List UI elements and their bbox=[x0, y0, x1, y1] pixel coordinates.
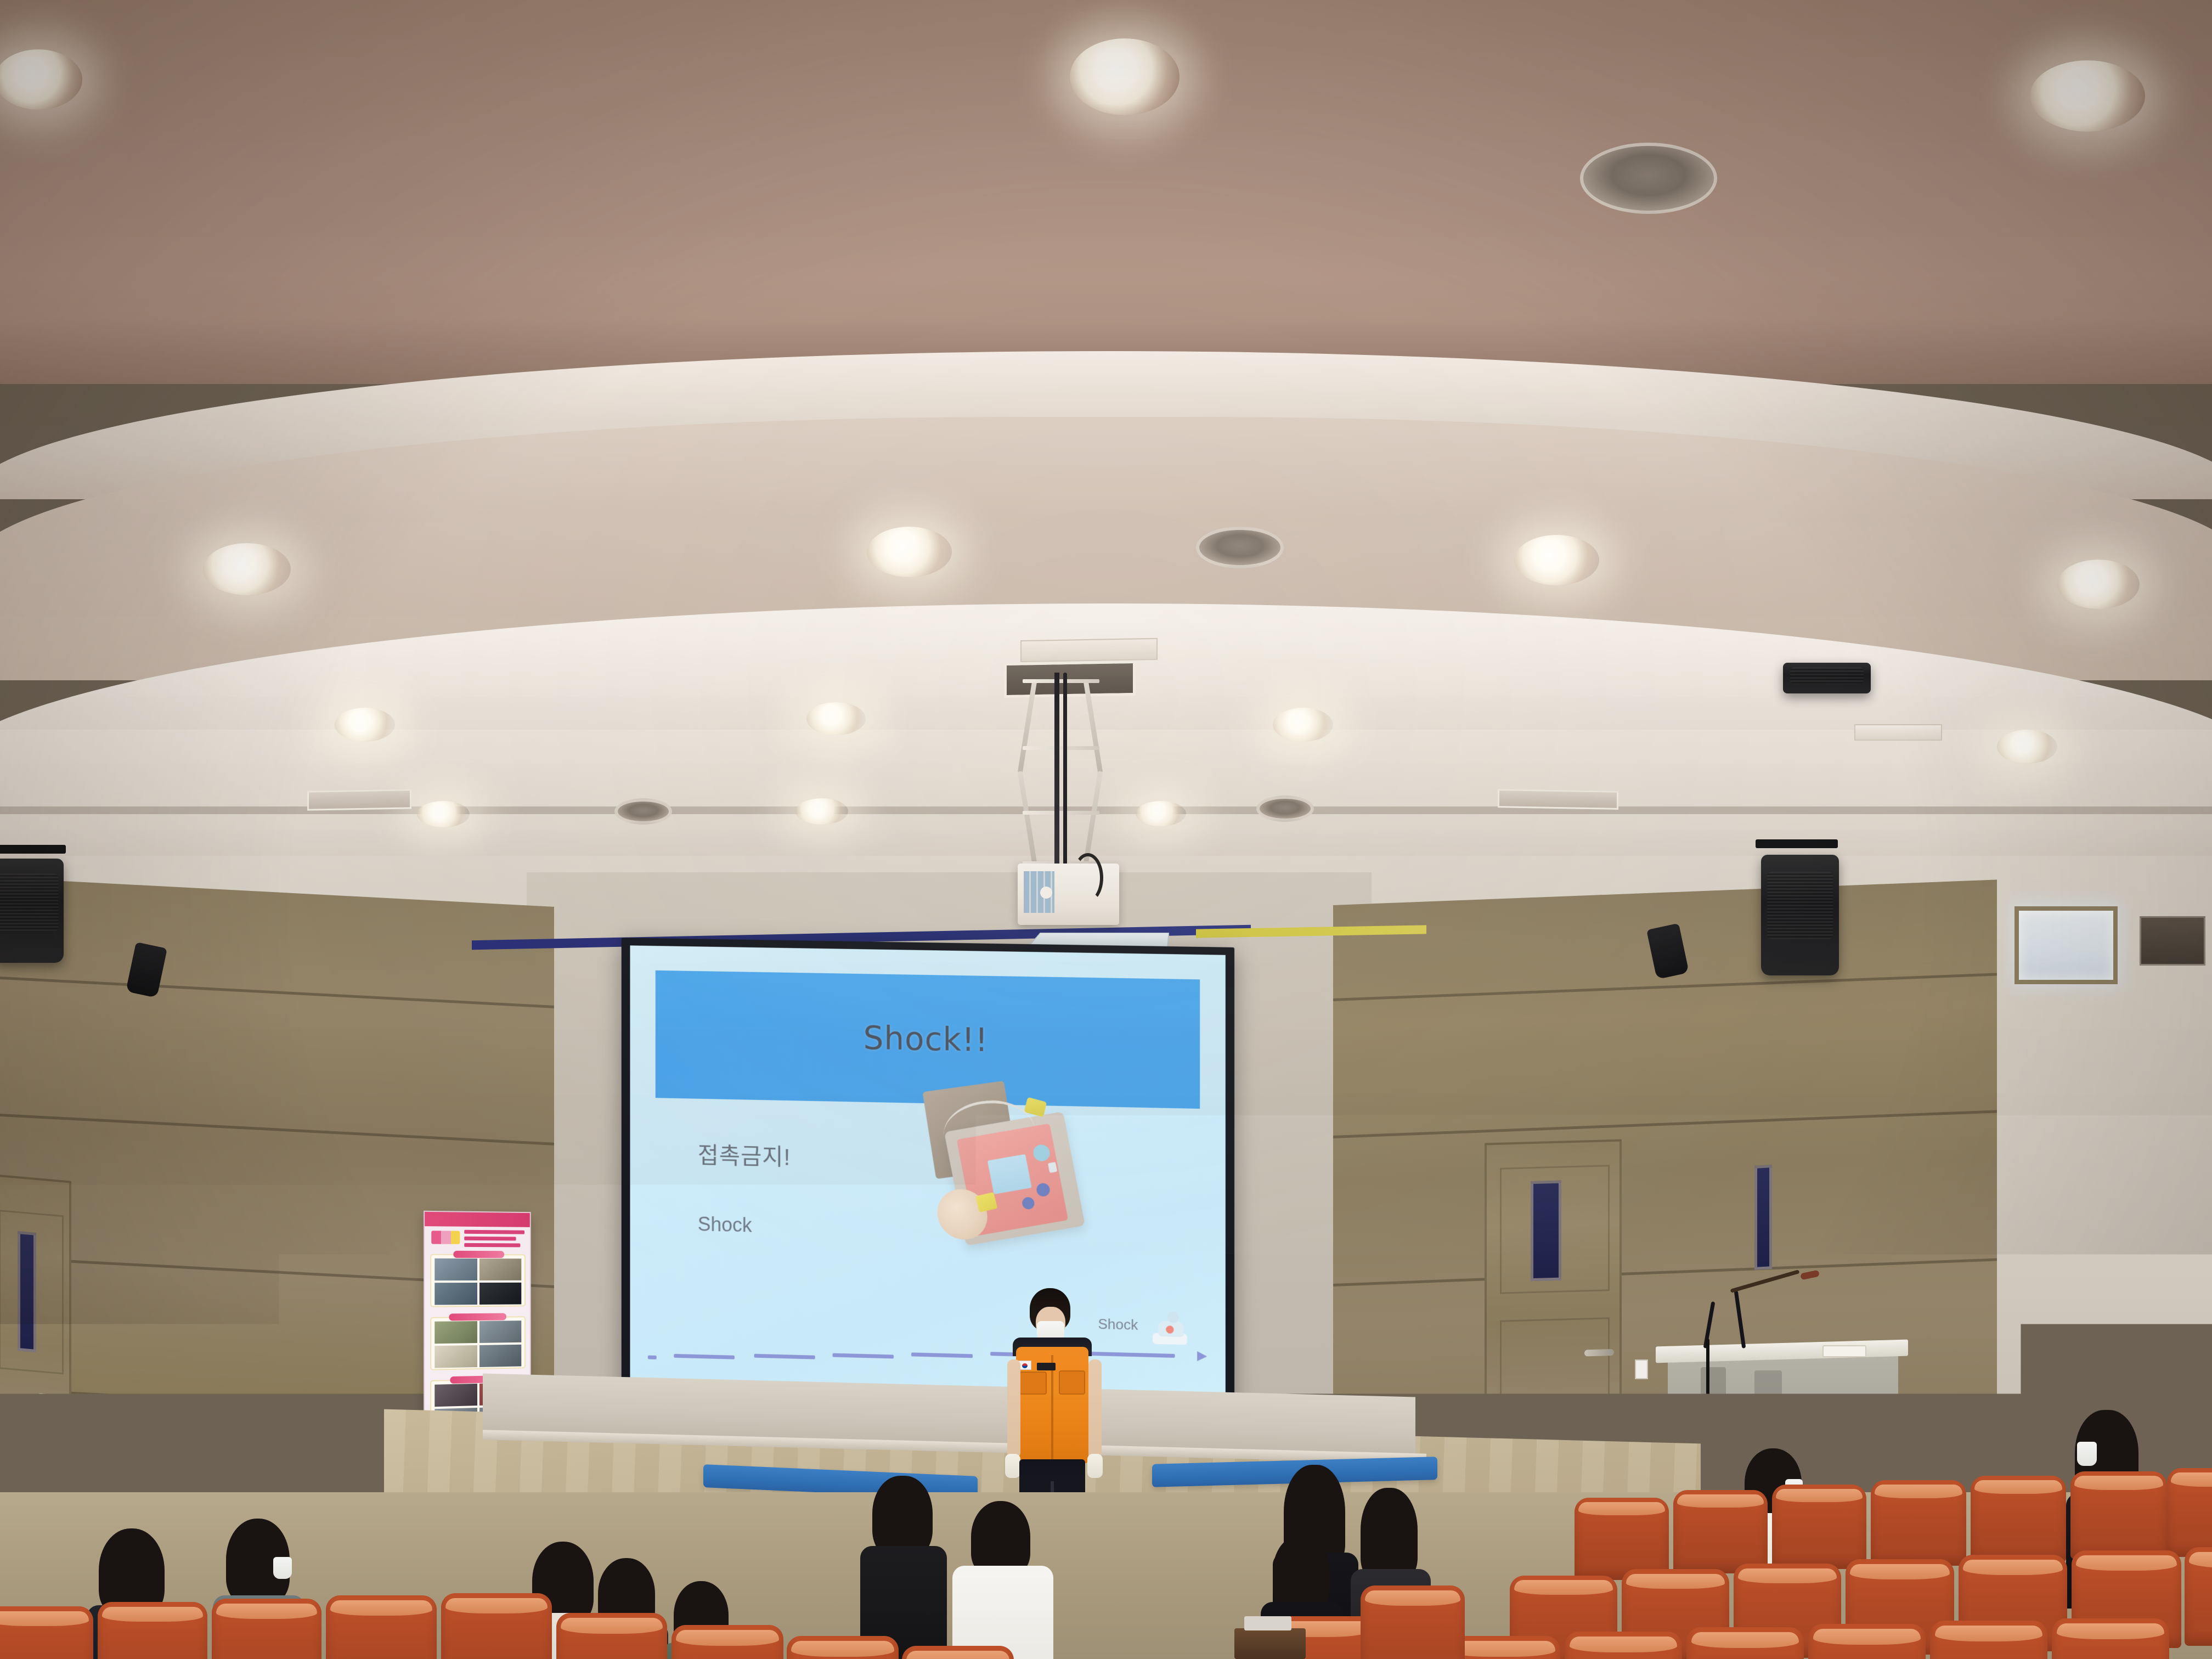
auditorium-seat[interactable] bbox=[98, 1602, 207, 1659]
downlight-icon bbox=[1514, 535, 1599, 585]
auditorium-seat[interactable] bbox=[441, 1593, 552, 1659]
handout-paper bbox=[1244, 1616, 1291, 1630]
downlight-icon bbox=[2057, 560, 2140, 609]
speaker-bracket bbox=[1756, 839, 1838, 848]
slide-body-korean: 접촉금지! bbox=[698, 1137, 791, 1172]
aed-screen bbox=[988, 1154, 1032, 1194]
timeline-arrowhead-icon bbox=[1198, 1351, 1207, 1362]
auditorium-seat[interactable] bbox=[0, 1606, 93, 1659]
ceiling-ring-vent-icon bbox=[1256, 795, 1314, 822]
auditorium-seat[interactable] bbox=[1673, 1490, 1768, 1573]
banner-photo-section bbox=[430, 1316, 526, 1370]
banner-photo bbox=[435, 1384, 477, 1407]
door-glass-pane bbox=[1531, 1181, 1561, 1282]
banner-photo bbox=[435, 1321, 477, 1344]
auditorium-seat[interactable] bbox=[212, 1599, 321, 1659]
audience-face-mask bbox=[273, 1557, 292, 1579]
audience-hair bbox=[1273, 1535, 1330, 1612]
timeline-dash bbox=[832, 1353, 894, 1359]
auditorium-seat[interactable] bbox=[1686, 1627, 1804, 1659]
banner-photo bbox=[479, 1345, 521, 1367]
auditorium-seat[interactable] bbox=[1808, 1624, 1926, 1659]
podium-paper bbox=[1822, 1345, 1866, 1357]
wall-vent-panel bbox=[2140, 916, 2205, 966]
podium-cable bbox=[1706, 1339, 1709, 1503]
audience-torso bbox=[952, 1566, 1053, 1659]
ceiling-ring-vent-icon bbox=[614, 798, 672, 825]
banner-section-tab bbox=[453, 1251, 504, 1258]
auditorium-seat[interactable] bbox=[1772, 1485, 1866, 1569]
wall-seam bbox=[0, 1114, 554, 1145]
lift-crossbar bbox=[1023, 679, 1099, 683]
ceiling-ring-vent-icon bbox=[1196, 527, 1284, 568]
downlight-icon bbox=[335, 708, 395, 742]
wall-outlet[interactable] bbox=[1635, 1359, 1648, 1379]
slide-timeline-arrow bbox=[648, 1347, 1207, 1365]
timeline-dash bbox=[648, 1356, 657, 1359]
auditorium-seat[interactable] bbox=[2070, 1471, 2167, 1559]
downlight-icon bbox=[417, 801, 470, 827]
banner-photo bbox=[479, 1321, 521, 1343]
lift-crossbar bbox=[1023, 746, 1099, 750]
downlight-icon bbox=[1273, 708, 1333, 742]
banner-headline-text bbox=[464, 1237, 516, 1241]
door-handle-icon[interactable] bbox=[1584, 1349, 1614, 1357]
presenter-arm-left bbox=[1007, 1359, 1020, 1458]
banner-logo bbox=[431, 1231, 460, 1244]
downlight-icon bbox=[806, 702, 866, 735]
wall-seam bbox=[0, 977, 554, 1008]
wall-seam bbox=[1333, 1256, 2046, 1286]
auditorium-seat[interactable] bbox=[2052, 1618, 2169, 1659]
timeline-dash bbox=[674, 1354, 735, 1359]
downlight-icon bbox=[1136, 801, 1186, 826]
auditorium-seat[interactable] bbox=[787, 1636, 899, 1659]
ceiling-ring-vent-icon bbox=[1580, 143, 1717, 214]
ceiling-air-vent bbox=[1498, 789, 1618, 810]
projector-loop-cable bbox=[1073, 853, 1103, 902]
audience-face-mask bbox=[2077, 1442, 2097, 1466]
timeline-dash bbox=[911, 1352, 973, 1358]
auditorium-seat[interactable] bbox=[902, 1646, 1014, 1659]
downlight-icon bbox=[2030, 60, 2145, 132]
door-glass-pane bbox=[18, 1231, 36, 1352]
projector-lens-icon bbox=[1040, 887, 1052, 899]
banner-photo bbox=[435, 1283, 477, 1305]
aed-device-image bbox=[926, 1085, 1085, 1270]
speaker-bracket bbox=[0, 845, 66, 854]
presenter-glove-left bbox=[1005, 1454, 1020, 1478]
banner-photo-section bbox=[430, 1254, 526, 1307]
projector-cable bbox=[1063, 673, 1067, 865]
auditorium-seat[interactable] bbox=[1575, 1498, 1669, 1580]
banner-header-bar bbox=[425, 1212, 530, 1227]
wall-speaker-right bbox=[1761, 855, 1839, 975]
podium-panel-slot bbox=[1701, 1367, 1726, 1401]
door-left[interactable] bbox=[0, 1173, 71, 1488]
presenter-uniform-seam bbox=[1051, 1355, 1053, 1463]
wall-speaker-left bbox=[0, 859, 64, 963]
presenter-chest-pocket bbox=[1019, 1372, 1047, 1395]
banner-photo bbox=[435, 1345, 477, 1368]
auditorium-seat[interactable] bbox=[556, 1613, 667, 1659]
auditorium-seat[interactable] bbox=[1565, 1632, 1682, 1659]
audience-hair bbox=[971, 1501, 1030, 1576]
seat-armrest bbox=[1234, 1628, 1306, 1659]
banner-headline-text bbox=[464, 1243, 520, 1248]
downlight-icon bbox=[1070, 38, 1180, 115]
downlight-icon bbox=[867, 527, 952, 577]
auditorium-seat[interactable] bbox=[2167, 1468, 2212, 1557]
timeline-label: Shock bbox=[1098, 1316, 1138, 1334]
presenter-glove-right bbox=[1087, 1454, 1103, 1478]
slide-surface: Shock!! 접촉금지! Shock bbox=[630, 945, 1225, 1408]
banner-photo bbox=[479, 1259, 521, 1280]
ceiling-air-vent bbox=[307, 789, 411, 810]
projection-booth-window bbox=[2015, 906, 2118, 984]
banner-section-tab bbox=[449, 1313, 506, 1321]
presenter-chest-pocket bbox=[1059, 1370, 1085, 1395]
downlight-icon bbox=[203, 543, 291, 595]
presenter-arm-right bbox=[1088, 1359, 1102, 1458]
wall-switch[interactable] bbox=[217, 1448, 232, 1467]
downlight-icon bbox=[1997, 730, 2057, 764]
auditorium-seat[interactable] bbox=[1930, 1621, 2047, 1659]
door-lower-panel bbox=[0, 1396, 64, 1479]
door-right[interactable] bbox=[1485, 1139, 1622, 1472]
downlight-icon bbox=[795, 798, 848, 825]
wall-seam bbox=[1333, 971, 2046, 1001]
ceiling-vent-slot bbox=[1854, 724, 1942, 741]
ceiling-vent-slot bbox=[1020, 638, 1158, 662]
auditorium-seat[interactable] bbox=[1871, 1480, 1966, 1566]
auditorium-seat[interactable] bbox=[2185, 1547, 2212, 1646]
auditorium-seat[interactable] bbox=[1361, 1585, 1465, 1659]
banner-photo bbox=[435, 1259, 477, 1280]
auditorium-seat[interactable] bbox=[1971, 1476, 2066, 1562]
projector-scissor-lift bbox=[1023, 675, 1099, 872]
slide-body-english: Shock bbox=[698, 1212, 752, 1237]
projection-screen: Shock!! 접촉금지! Shock bbox=[622, 938, 1234, 1418]
presenter-name-tag bbox=[1037, 1363, 1056, 1370]
auditorium-seat[interactable] bbox=[326, 1595, 437, 1659]
cpr-figure-icon bbox=[1153, 1311, 1189, 1348]
wall-window-right bbox=[1754, 1165, 1772, 1270]
audience-hair bbox=[1361, 1488, 1418, 1580]
ceiling-speaker-right bbox=[1783, 663, 1871, 693]
podium-control-panel[interactable] bbox=[1754, 1370, 1782, 1399]
wall-seam bbox=[1333, 1108, 2046, 1138]
auditorium-seat[interactable] bbox=[672, 1625, 783, 1659]
auditorium-photo-scene: Shock!! 접촉금지! Shock bbox=[0, 0, 2212, 1659]
projector-cable bbox=[1054, 673, 1059, 865]
lift-crossbar bbox=[1023, 811, 1099, 815]
banner-headline-text bbox=[464, 1230, 524, 1234]
timeline-dash bbox=[754, 1354, 815, 1359]
banner-photo bbox=[479, 1283, 521, 1305]
door-lower-panel bbox=[1500, 1317, 1610, 1452]
